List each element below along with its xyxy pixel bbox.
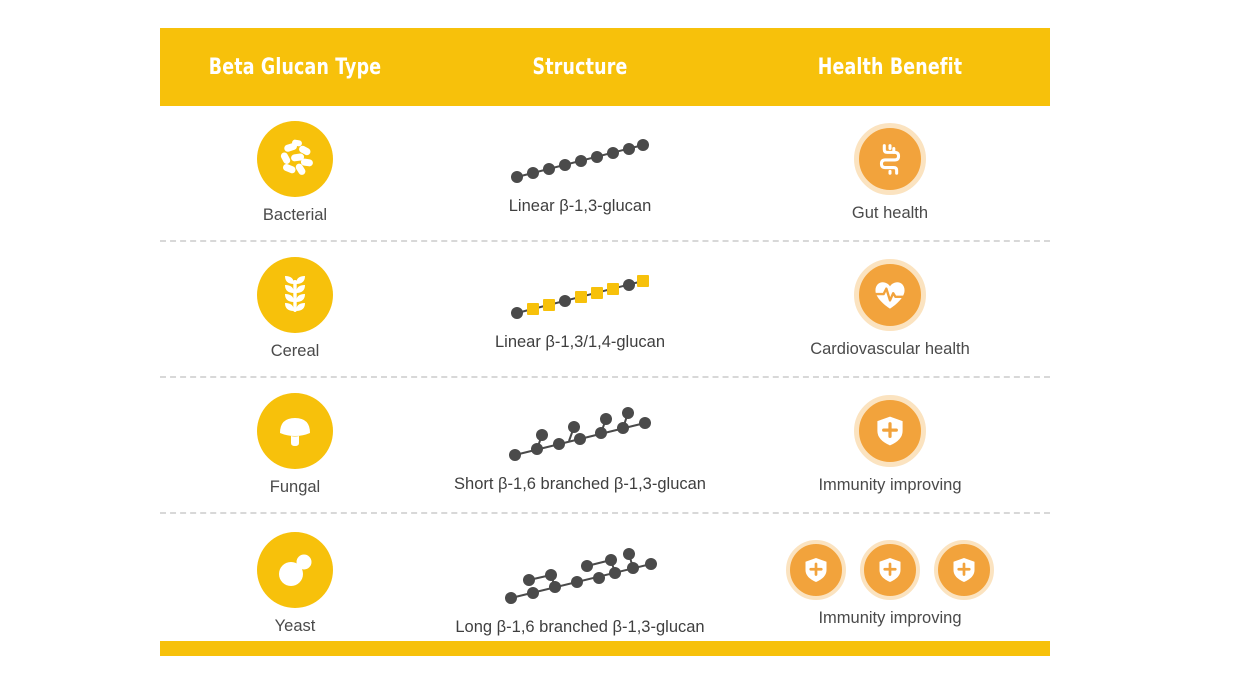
benefit-cell-immunity-triple: Immunity improving — [730, 540, 1050, 628]
shield-plus-icon — [854, 395, 926, 467]
bacteria-icon — [257, 121, 333, 197]
benefit-cell-gut-health: Gut health — [730, 123, 1050, 223]
type-label: Cereal — [271, 342, 320, 361]
type-label: Yeast — [275, 617, 316, 636]
benefit-label: Immunity improving — [818, 609, 961, 628]
type-cell-bacterial: Bacterial — [160, 121, 430, 225]
table-row: Yeast — [160, 514, 1050, 654]
structure-cell-long-branched: Long β-1,6 branched β-1,3-glucan — [430, 532, 730, 637]
footer-accent-bar — [160, 641, 1050, 656]
table-row: Cereal — [160, 242, 1050, 378]
structure-cell-mixed-linkage: Linear β-1,3/1,4-glucan — [430, 267, 730, 352]
type-cell-yeast: Yeast — [160, 532, 430, 636]
shield-plus-icon — [934, 540, 994, 600]
type-cell-fungal: Fungal — [160, 393, 430, 497]
linear-chain-diagram — [505, 131, 655, 191]
benefit-label: Cardiovascular health — [810, 340, 970, 359]
type-label: Bacterial — [263, 206, 327, 225]
shield-plus-icon — [786, 540, 846, 600]
infographic-table-page: Beta Glucan Type Structure Health Benefi… — [0, 0, 1250, 684]
intestine-icon — [854, 123, 926, 195]
long-branched-chain-diagram — [503, 532, 658, 612]
yeast-cell-icon — [257, 532, 333, 608]
column-header-structure: Structure — [448, 55, 712, 80]
shield-plus-icon — [860, 540, 920, 600]
mushroom-icon — [257, 393, 333, 469]
benefit-cell-immunity-single: Immunity improving — [730, 395, 1050, 495]
structure-cell-linear: Linear β-1,3-glucan — [430, 131, 730, 216]
structure-label: Linear β-1,3/1,4-glucan — [495, 333, 665, 352]
table-row: Fungal — [160, 378, 1050, 514]
benefit-label: Gut health — [852, 204, 928, 223]
benefit-label: Immunity improving — [818, 476, 961, 495]
wheat-icon — [257, 257, 333, 333]
beta-glucan-table: Beta Glucan Type Structure Health Benefi… — [160, 28, 1050, 654]
table-row: Bacterial — [160, 106, 1050, 242]
type-label: Fungal — [270, 478, 320, 497]
benefit-cell-cardiovascular: Cardiovascular health — [730, 259, 1050, 359]
heart-pulse-icon — [854, 259, 926, 331]
structure-label: Linear β-1,3-glucan — [509, 197, 652, 216]
structure-label: Short β-1,6 branched β-1,3-glucan — [454, 475, 706, 494]
structure-cell-short-branched: Short β-1,6 branched β-1,3-glucan — [430, 397, 730, 494]
structure-label: Long β-1,6 branched β-1,3-glucan — [455, 618, 704, 637]
type-cell-cereal: Cereal — [160, 257, 430, 361]
column-header-health-benefit: Health Benefit — [749, 55, 1031, 80]
mixed-linkage-chain-diagram — [505, 267, 655, 327]
column-header-beta-glucan-type: Beta Glucan Type — [176, 55, 414, 80]
table-header-row: Beta Glucan Type Structure Health Benefi… — [160, 28, 1050, 106]
short-branched-chain-diagram — [505, 397, 655, 469]
shield-badge-group — [786, 540, 994, 600]
